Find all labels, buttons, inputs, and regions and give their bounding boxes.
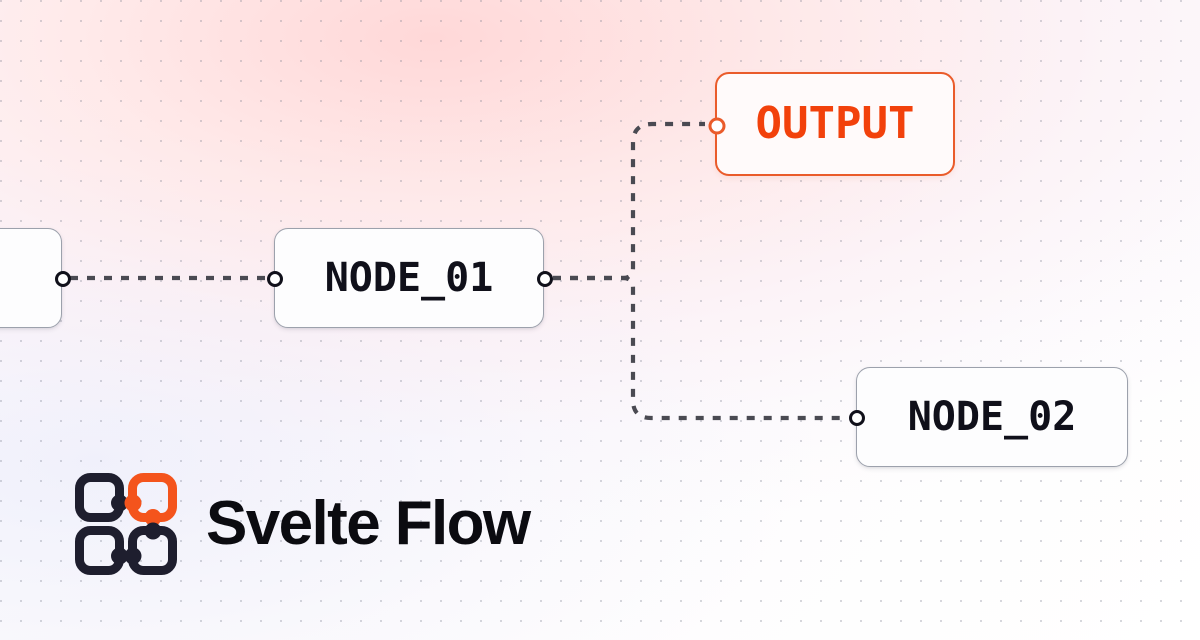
node-node-02-label: NODE_02 bbox=[908, 397, 1077, 437]
brand-name: Svelte Flow bbox=[206, 493, 530, 555]
svelte-flow-logo-icon bbox=[74, 472, 178, 576]
flow-canvas[interactable]: NODE_01 OUTPUT NODE_02 bbox=[0, 0, 1200, 640]
handle-input-source[interactable] bbox=[55, 271, 71, 287]
node-node-01-label: NODE_01 bbox=[325, 258, 494, 298]
handle-node-01-source[interactable] bbox=[537, 271, 553, 287]
handle-output-target[interactable] bbox=[709, 118, 726, 135]
handle-node-02-target[interactable] bbox=[849, 410, 865, 426]
node-node-01[interactable]: NODE_01 bbox=[274, 228, 544, 328]
node-output-label: OUTPUT bbox=[756, 102, 915, 146]
node-output[interactable]: OUTPUT bbox=[715, 72, 955, 176]
handle-node-01-target[interactable] bbox=[267, 271, 283, 287]
node-input[interactable] bbox=[0, 228, 62, 328]
node-node-02[interactable]: NODE_02 bbox=[856, 367, 1128, 467]
brand-lockup: Svelte Flow bbox=[74, 472, 530, 576]
